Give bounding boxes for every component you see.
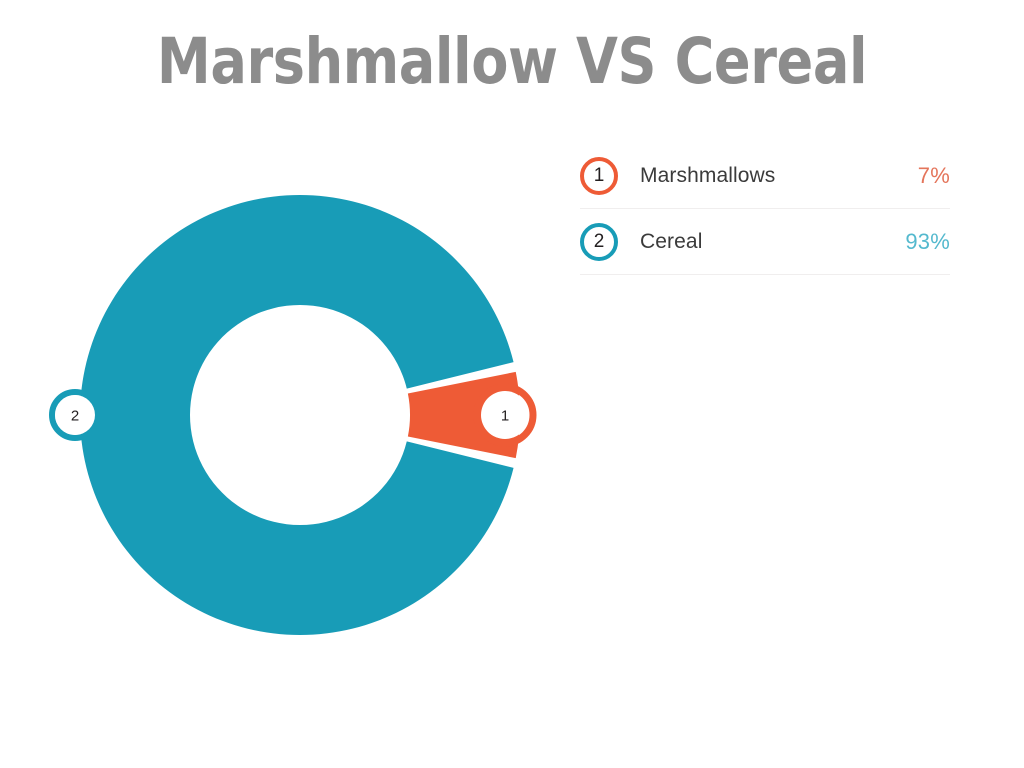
page-title: Marshmallow VS Cereal xyxy=(72,24,953,100)
legend-row-marshmallows[interactable]: 1 Marshmallows 7% xyxy=(580,143,950,209)
slide-canvas: Marshmallow VS Cereal 1 2 xyxy=(0,0,1024,768)
legend-value-marshmallows: 7% xyxy=(918,163,950,189)
legend-marker-1: 1 xyxy=(580,157,618,195)
callout-badge-1[interactable]: 1 xyxy=(477,387,533,443)
legend-label-cereal: Cereal xyxy=(640,230,905,254)
legend: 1 Marshmallows 7% 2 Cereal 93% xyxy=(580,143,950,275)
callout-label-2: 2 xyxy=(71,408,79,425)
callout-badge-2[interactable]: 2 xyxy=(52,392,98,438)
legend-marker-label-2: 2 xyxy=(580,223,618,261)
legend-marker-label-1: 1 xyxy=(580,157,618,195)
legend-label-marshmallows: Marshmallows xyxy=(640,164,918,188)
donut-chart: 1 2 xyxy=(40,155,560,695)
legend-marker-2: 2 xyxy=(580,223,618,261)
donut-chart-svg: 1 2 xyxy=(40,155,560,695)
legend-row-cereal[interactable]: 2 Cereal 93% xyxy=(580,209,950,275)
callout-label-1: 1 xyxy=(501,408,509,425)
legend-value-cereal: 93% xyxy=(905,229,950,255)
